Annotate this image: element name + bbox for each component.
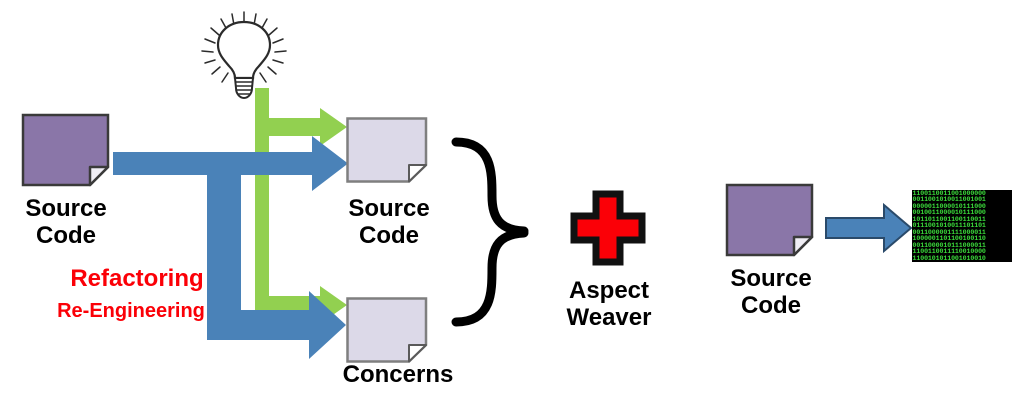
label-refactoring: Refactoring xyxy=(42,266,232,293)
idea-flow-green-trunk xyxy=(255,88,269,310)
document-icon-input-source-code xyxy=(20,112,112,188)
label-input-source-code: Source Code xyxy=(6,196,126,250)
document-icon-woven-source-code xyxy=(724,182,816,258)
binary-row: 1100101011001010010 xyxy=(913,256,1013,262)
label-woven-source-code: Source Code xyxy=(712,266,830,320)
flow-arrows-layer xyxy=(0,0,1028,420)
binary-matrix-icon: 1100110011001000000001100101001100100100… xyxy=(912,190,1012,262)
compile-arrow xyxy=(826,205,911,251)
lightbulb-icon xyxy=(196,8,292,100)
group-brace xyxy=(456,142,524,322)
document-icon-concerns xyxy=(345,296,429,364)
label-output-source-code: Source Code xyxy=(330,196,448,250)
label-aspect-weaver: Aspect Weaver xyxy=(540,278,678,332)
diagram-canvas: Source Code Refactoring Re-Engineering S… xyxy=(0,0,1028,420)
document-icon-output-source-code xyxy=(345,116,429,184)
plus-cross-icon xyxy=(568,188,648,268)
label-concerns: Concerns xyxy=(318,362,478,389)
label-re-engineering: Re-Engineering xyxy=(22,300,240,322)
